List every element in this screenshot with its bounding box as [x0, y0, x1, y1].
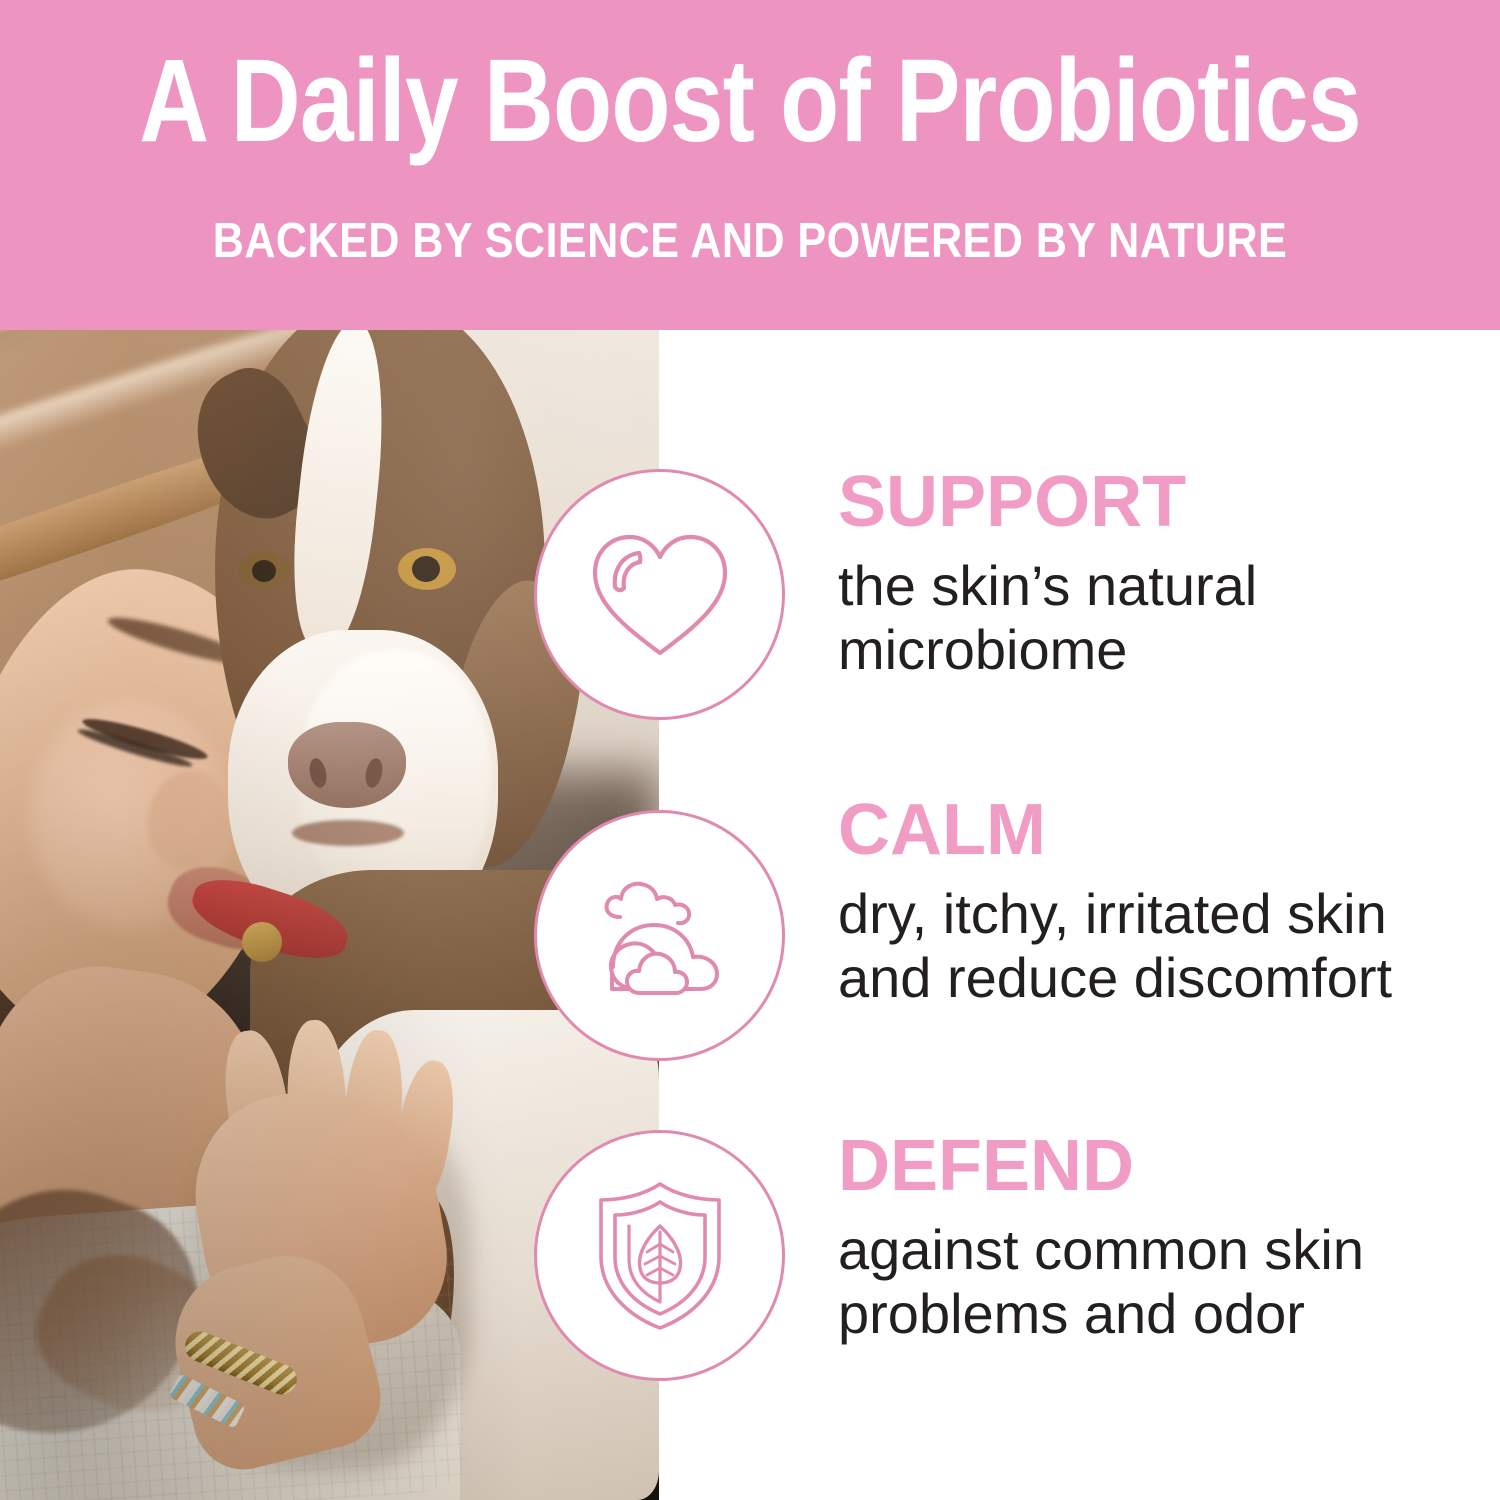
benefit-icon-circle-defend: [534, 1130, 785, 1381]
benefit-title-support: SUPPORT: [838, 464, 1478, 540]
benefit-title-calm: CALM: [838, 792, 1478, 868]
benefit-body-line: microbiome: [838, 618, 1478, 682]
benefit-body-calm: dry, itchy, irritated skin and reduce di…: [838, 882, 1478, 1010]
dog-pupil-left: [252, 560, 276, 582]
benefit-block-calm: CALM dry, itchy, irritated skin and redu…: [838, 792, 1478, 1010]
benefit-body-line: against common skin: [838, 1218, 1478, 1282]
page-title: A Daily Boost of Probiotics: [135, 40, 1365, 162]
benefit-body-line: and reduce discomfort: [838, 946, 1478, 1010]
heart-icon: [585, 525, 735, 665]
page-subtitle: BACKED BY SCIENCE AND POWERED BY NATURE: [90, 213, 1410, 269]
benefit-title-defend: DEFEND: [838, 1128, 1478, 1204]
benefit-body-line: dry, itchy, irritated skin: [838, 882, 1478, 946]
benefit-body-line: problems and odor: [838, 1282, 1478, 1346]
benefit-icon-circle-calm: [534, 810, 785, 1061]
shield-leaf-icon: [585, 1178, 735, 1333]
header-banner: A Daily Boost of Probiotics BACKED BY SC…: [0, 0, 1500, 330]
benefit-body-defend: against common skin problems and odor: [838, 1218, 1478, 1346]
benefit-body-line: the skin’s natural: [838, 554, 1478, 618]
clouds-icon: [580, 871, 740, 1001]
product-benefits-infographic: A Daily Boost of Probiotics BACKED BY SC…: [0, 0, 1500, 1500]
dog-mouth: [292, 820, 404, 846]
dog-collar-tag: [242, 922, 282, 962]
benefit-block-defend: DEFEND against common skin problems and …: [838, 1128, 1478, 1346]
benefit-body-support: the skin’s natural microbiome: [838, 554, 1478, 682]
benefit-icon-circle-support: [534, 469, 785, 720]
dog-nose: [288, 722, 406, 808]
benefit-block-support: SUPPORT the skin’s natural microbiome: [838, 464, 1478, 682]
dog-pupil-right: [412, 556, 440, 582]
